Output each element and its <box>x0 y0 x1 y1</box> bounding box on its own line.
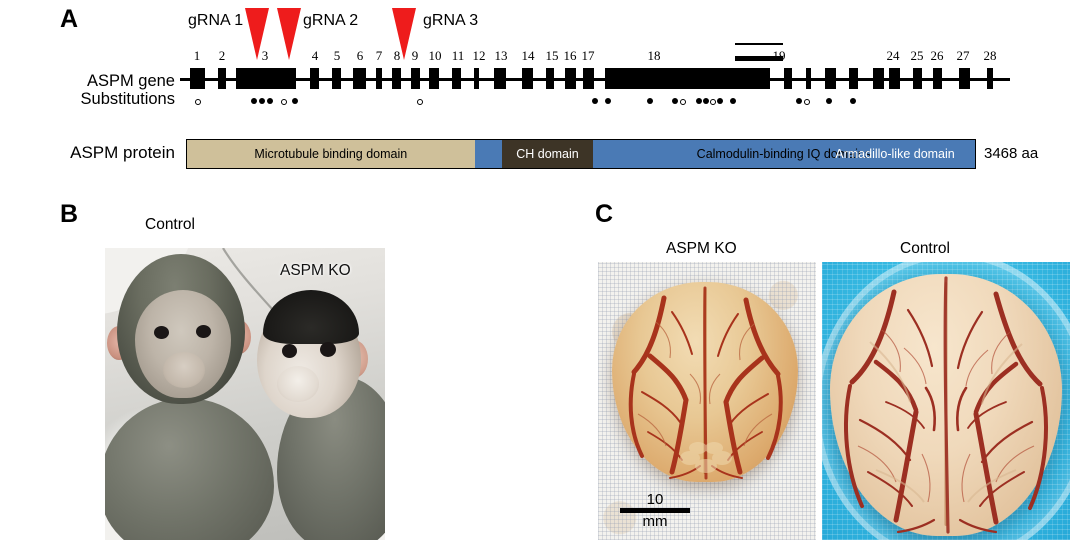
panel-a-letter: A <box>60 5 78 34</box>
exon-box-3 <box>236 68 296 89</box>
exon-number-11: 11 <box>449 48 467 64</box>
substitution-dot <box>696 98 702 104</box>
exon-box-21 <box>825 68 836 89</box>
exon-box-16 <box>565 68 576 89</box>
exon-box-12 <box>474 68 479 89</box>
exon-box-28 <box>987 68 993 89</box>
grna-2-label: gRNA 2 <box>303 12 358 30</box>
monkey-control-eye-left <box>154 326 169 339</box>
exon-box-5 <box>332 68 341 89</box>
substitution-dot <box>592 98 598 104</box>
exon-box-18 <box>605 68 770 89</box>
aspm-gene-row-label: ASPM gene <box>20 72 175 91</box>
exon-number-10: 10 <box>426 48 444 64</box>
panel-a: A gRNA 1 gRNA 2 gRNA 3 ASPM gene Substit… <box>0 0 1087 190</box>
exon-number-18: 18 <box>645 48 663 64</box>
grna-3-label: gRNA 3 <box>423 12 478 30</box>
substitution-dot <box>672 98 678 104</box>
ko-brain-vessels <box>612 282 798 482</box>
domain-microtubule-binding: Microtubule binding domain <box>187 140 475 168</box>
exon-box-23 <box>873 68 884 89</box>
exon-box-26 <box>933 68 942 89</box>
aspm-protein-row-label: ASPM protein <box>20 143 175 163</box>
grna-1-label: gRNA 1 <box>188 12 243 30</box>
panel-b-letter: B <box>60 200 78 229</box>
exon-number-27: 27 <box>954 48 972 64</box>
substitution-dot <box>710 99 716 105</box>
control-brain-vessels <box>830 274 1062 536</box>
panel-c-control-label: Control <box>900 240 950 258</box>
control-brain-photo <box>822 262 1070 540</box>
gene-backbone-line <box>180 78 1010 81</box>
exon-box-15 <box>546 68 554 89</box>
exon-number-25: 25 <box>908 48 926 64</box>
exon-number-15: 15 <box>543 48 561 64</box>
monkey-ko-eye-left <box>282 344 297 358</box>
exon-box-11 <box>452 68 461 89</box>
exon-box-14 <box>522 68 533 89</box>
exon-box-4 <box>310 68 319 89</box>
substitution-dot <box>292 98 298 104</box>
substitution-dot <box>850 98 856 104</box>
exon-box-1 <box>190 68 205 89</box>
exon-number-8: 8 <box>390 48 404 64</box>
scale-bar-unit: mm <box>620 514 690 530</box>
scale-bar: 10 mm <box>620 492 690 531</box>
substitution-dot <box>826 98 832 104</box>
domain-ch: CH domain <box>502 140 593 168</box>
exon-box-17 <box>583 68 594 89</box>
exon-number-6: 6 <box>353 48 367 64</box>
panel-c-letter: C <box>595 200 613 229</box>
exon-box-7 <box>376 68 382 89</box>
substitution-dot <box>251 98 257 104</box>
substitution-dot <box>804 99 810 105</box>
panel-b-control-label: Control <box>145 216 195 234</box>
panel-b: B Control <box>0 196 540 544</box>
substitution-dot <box>730 98 736 104</box>
substitution-dot <box>647 98 653 104</box>
exon-number-14: 14 <box>519 48 537 64</box>
marker-thin-line <box>735 43 783 45</box>
substitution-dot <box>703 98 709 104</box>
exon-number-2: 2 <box>215 48 229 64</box>
substitution-dot <box>417 99 423 105</box>
marker-thick-line <box>735 56 783 61</box>
exon-number-17: 17 <box>579 48 597 64</box>
aspm-ko-brain-photo: 10 mm <box>598 262 816 540</box>
exon-box-20 <box>806 68 811 89</box>
substitution-dot <box>195 99 201 105</box>
domain-armadillo-like: Armadillo-like domain <box>815 140 975 168</box>
monkey-control-eye-right <box>196 325 211 338</box>
control-brain <box>830 274 1062 536</box>
exon-box-27 <box>959 68 970 89</box>
exon-box-9 <box>411 68 420 89</box>
exon-box-19 <box>784 68 792 89</box>
exon-box-10 <box>429 68 439 89</box>
panel-c-ko-label: ASPM KO <box>666 240 737 258</box>
exon-number-4: 4 <box>308 48 322 64</box>
substitution-dot <box>259 98 265 104</box>
exon-box-2 <box>218 68 226 89</box>
protein-length-label: 3468 aa <box>984 145 1038 162</box>
panel-c: C ASPM KO Control <box>560 196 1087 544</box>
monkey-ko-eye-right <box>320 342 336 357</box>
substitution-dot <box>605 98 611 104</box>
exon-number-7: 7 <box>372 48 386 64</box>
panel-b-ko-label: ASPM KO <box>280 262 351 280</box>
domain-spacer-blue <box>475 140 503 168</box>
exon-box-6 <box>353 68 366 89</box>
exon-number-1: 1 <box>190 48 204 64</box>
exon-number-16: 16 <box>561 48 579 64</box>
exon-number-24: 24 <box>884 48 902 64</box>
exon-number-28: 28 <box>981 48 999 64</box>
exon-box-24 <box>889 68 900 89</box>
substitution-dot <box>680 99 686 105</box>
substitution-dot <box>281 99 287 105</box>
exon-box-13 <box>494 68 506 89</box>
exon-number-12: 12 <box>470 48 488 64</box>
exon-number-13: 13 <box>492 48 510 64</box>
substitution-dot <box>717 98 723 104</box>
exon-box-22 <box>849 68 858 89</box>
exon-number-26: 26 <box>928 48 946 64</box>
exon-number-3: 3 <box>258 48 272 64</box>
exon-box-8 <box>392 68 401 89</box>
substitution-dot <box>796 98 802 104</box>
grna-2-arrow-icon <box>277 8 301 60</box>
exon-number-9: 9 <box>408 48 422 64</box>
substitution-dot <box>267 98 273 104</box>
monkey-pair-photo: ASPM KO <box>105 248 385 540</box>
exon-number-5: 5 <box>330 48 344 64</box>
exon-box-25 <box>913 68 922 89</box>
scale-bar-value: 10 <box>620 492 690 508</box>
ko-brain <box>612 282 798 482</box>
substitutions-row-label: Substitutions <box>20 90 175 109</box>
